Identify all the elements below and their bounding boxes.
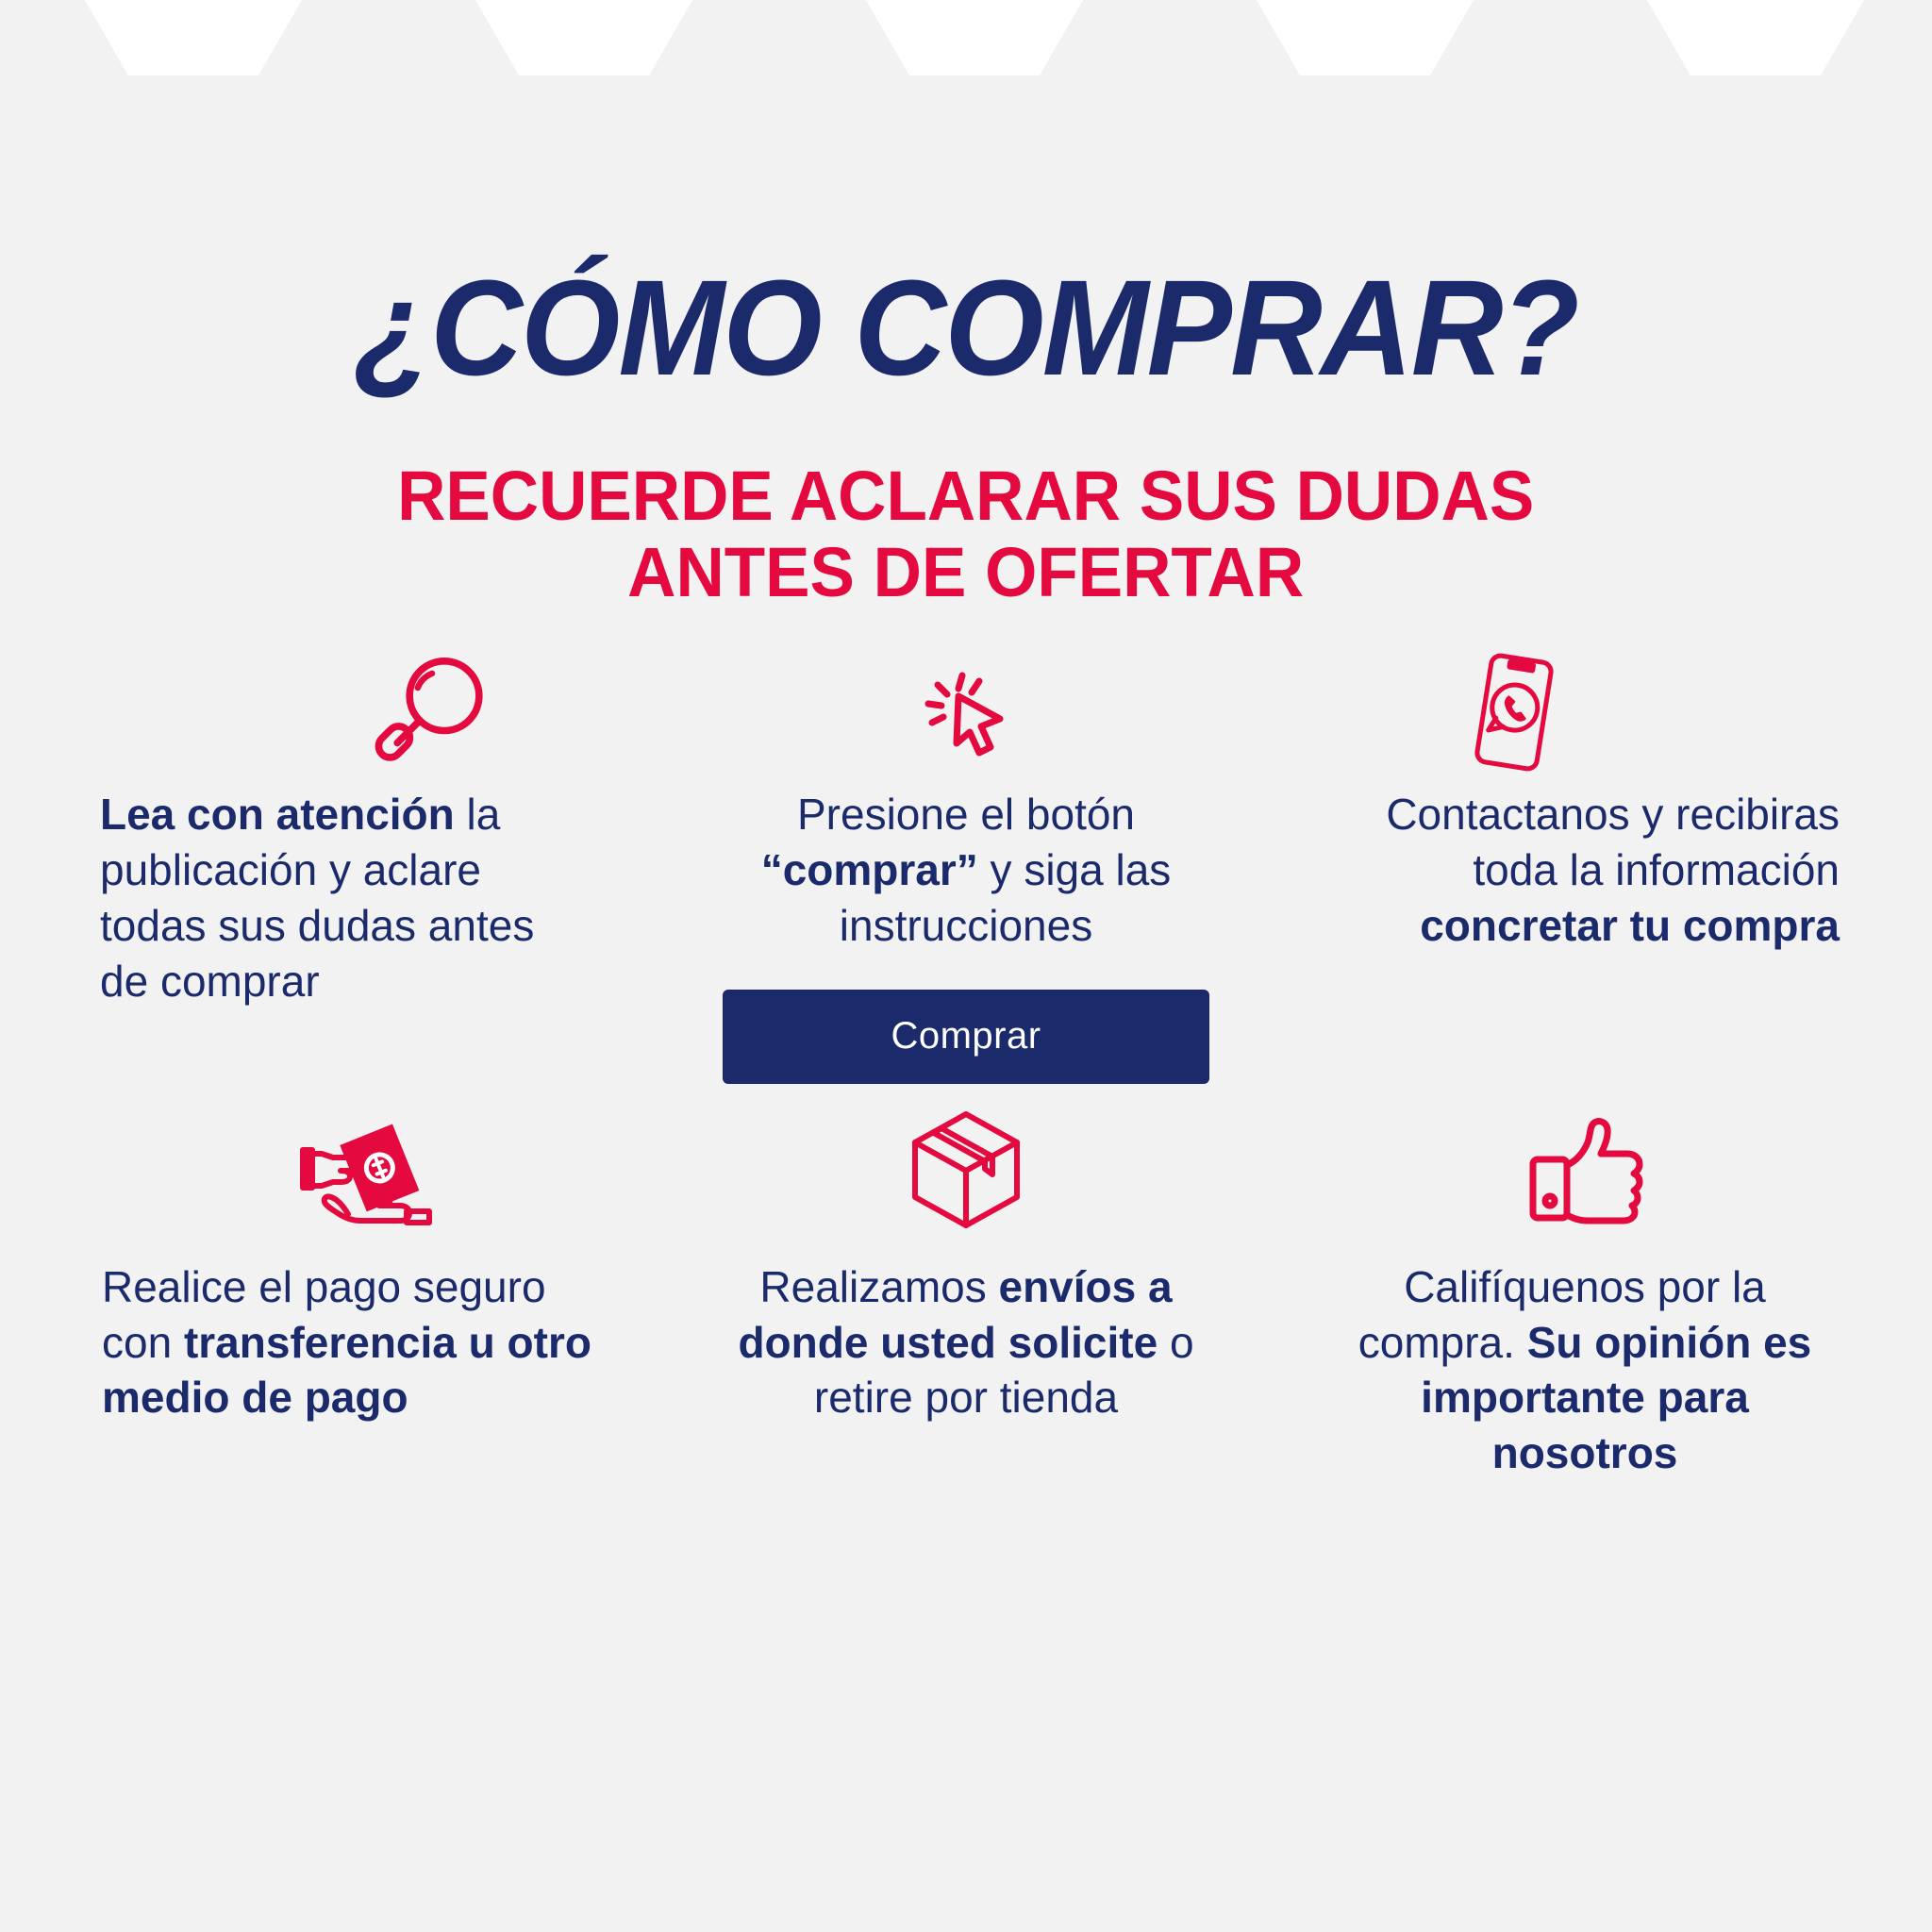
step-text: Presione el botón “comprar” y siga las i… [702,787,1230,954]
step-text: Contactanos y recibiras toda la informac… [1330,787,1840,954]
step-icon-wrapper [1457,651,1712,774]
step-icon-wrapper [258,1084,437,1235]
subtitle-line-2: ANTES DE OFERTAR [397,535,1534,611]
step-text-normal-1: Realizamos [759,1262,998,1311]
step-text-bold: “comprar” [761,845,978,894]
cursor-click-icon [909,660,1023,774]
step-text-normal: Contactanos y recibiras toda la informac… [1386,790,1840,894]
step-card-presione-comprar: Presione el botón “comprar” y siga las i… [657,651,1275,1084]
step-text-bold: Lea con atención [100,790,455,839]
subtitle-line-1: RECUERDE ACLARAR SUS DUDAS [397,457,1534,535]
step-icon-wrapper [909,651,1023,774]
step-card-envios: Realizamos envíos a donde usted solicite… [657,1084,1275,1482]
step-card-pago-seguro: Realice el pago seguro con transferencia… [38,1084,657,1482]
step-card-contactanos: Contactanos y recibiras toda la informac… [1275,651,1894,1084]
step-text: Califíquenos por la compra. Su opinión e… [1335,1259,1835,1482]
page-title-container: ¿CÓMO COMPRAR? [0,260,1932,396]
magnifier-icon [371,651,493,774]
package-box-icon [904,1103,1028,1235]
step-text: Lea con atención la publicación y aclare… [100,787,591,1009]
steps-grid: Lea con atención la publicación y aclare… [38,651,1894,1481]
page-title: ¿CÓMO COMPRAR? [354,260,1577,396]
step-card-lea-con-atencion: Lea con atención la publicación y aclare… [38,651,657,1084]
infographic-page: ¿CÓMO COMPRAR? RECUERDE ACLARAR SUS DUDA… [0,0,1932,1932]
step-text: Realizamos envíos a donde usted solicite… [702,1259,1230,1426]
step-icon-wrapper [1522,1084,1648,1235]
thumbs-up-icon [1522,1110,1648,1235]
step-icon-wrapper [904,1084,1028,1235]
step-text-bold: concretar tu compra [1420,901,1840,950]
page-subtitle-container: RECUERDE ACLARAR SUS DUDAS ANTES DE OFER… [0,458,1932,610]
whatsapp-phone-icon [1457,651,1571,774]
step-icon-wrapper [201,651,493,774]
step-text: Realice el pago seguro con transferencia… [102,1259,592,1426]
step-card-califiquenos: Califíquenos por la compra. Su opinión e… [1275,1084,1894,1482]
step-text-normal-1: Presione el botón [797,790,1135,839]
page-subtitle: RECUERDE ACLARAR SUS DUDAS ANTES DE OFER… [397,458,1534,610]
money-hands-icon [295,1112,437,1235]
comprar-button[interactable]: Comprar [723,990,1209,1084]
